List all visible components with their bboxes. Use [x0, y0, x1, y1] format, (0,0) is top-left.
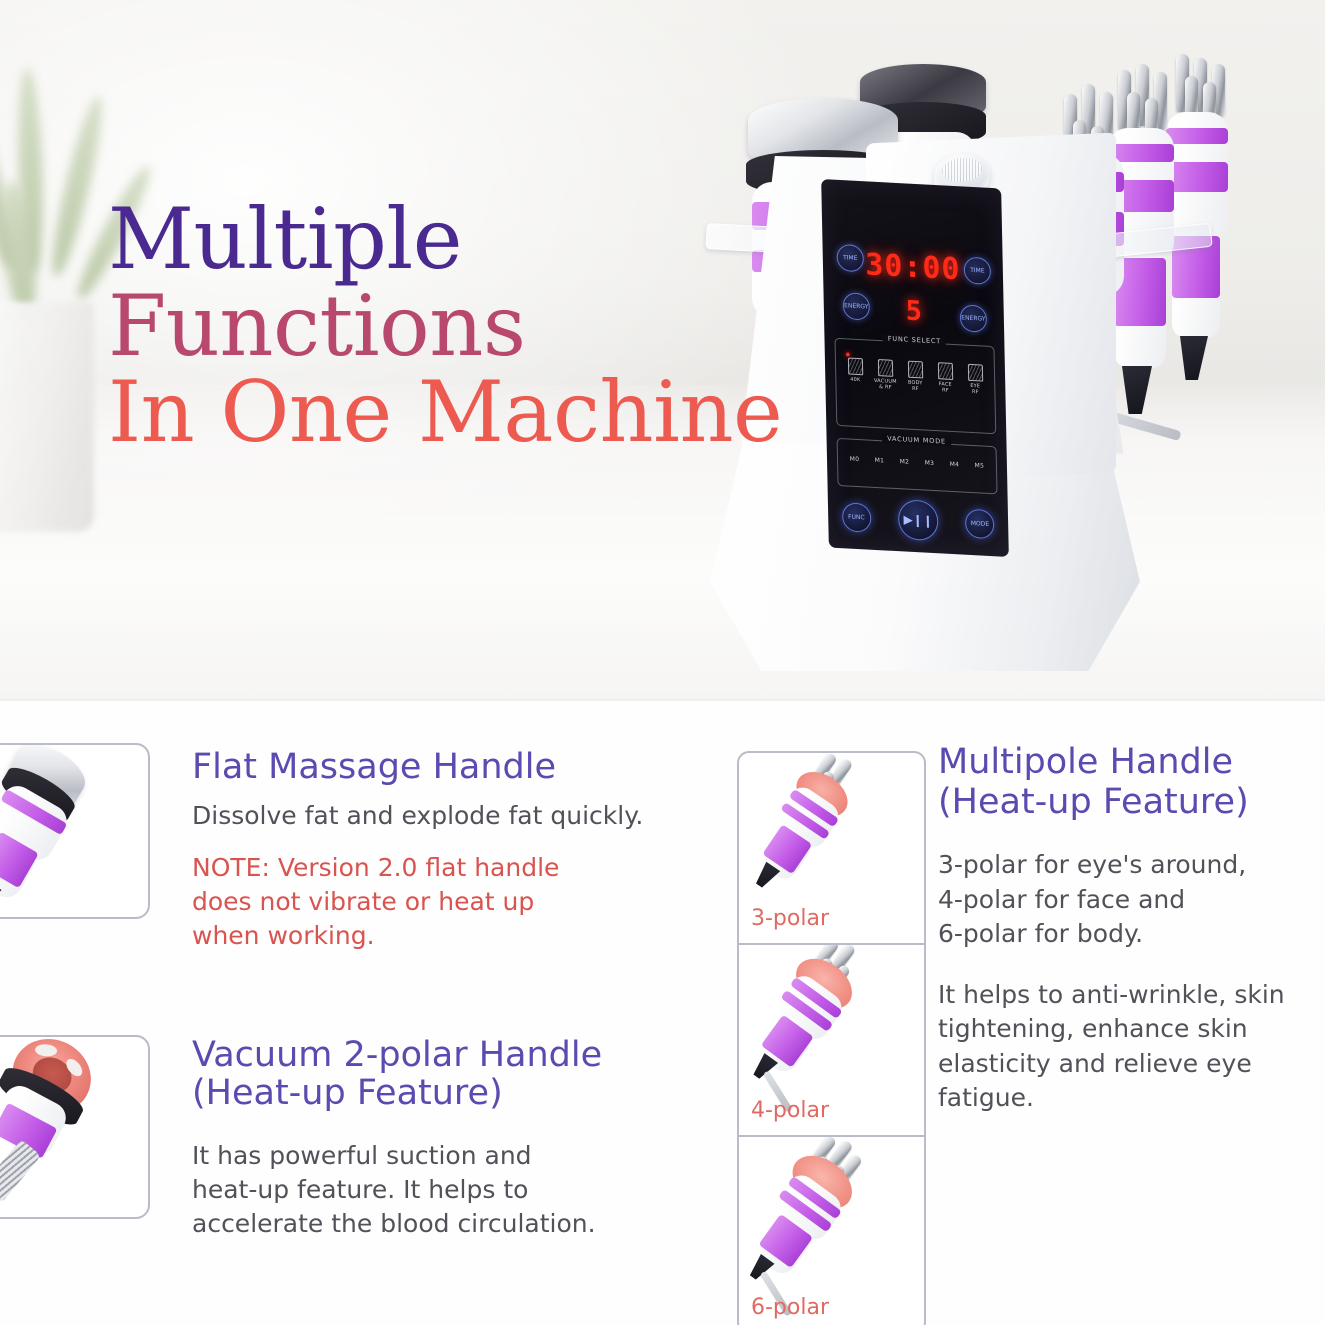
polar-box-4-label: 4-polar — [751, 1098, 829, 1123]
level-display: 5 — [905, 295, 922, 327]
multipole-body1-line-2: 4-polar for face and — [938, 883, 1325, 918]
polar-handle-gallery: 3-polar 4-polar — [737, 751, 922, 1325]
flat-handle-note-line-1: NOTE: Version 2.0 flat handle — [192, 851, 737, 885]
vacuum-probe-icon — [877, 359, 892, 377]
multipole-body1-line-1: 3-polar for eye's around, — [938, 848, 1325, 883]
func-item-40k[interactable]: 40K — [841, 357, 869, 384]
product-infographic: 30:00 TIME TIME 5 ENERGY ENERGY FUNC SEL… — [0, 0, 1325, 1325]
flat-massage-handle-thumbnail — [0, 743, 150, 919]
func-item-eye-rf[interactable]: EYE RF — [961, 363, 989, 396]
timer-display: 30:00 — [865, 247, 961, 287]
play-pause-button[interactable]: ▶❙❙ — [898, 499, 939, 541]
hero-section: 30:00 TIME TIME 5 ENERGY ENERGY FUNC SEL… — [0, 0, 1325, 700]
vacuum-handle-body-line-3: accelerate the blood circulation. — [192, 1207, 737, 1241]
multipole-title-line-2: (Heat-up Feature) — [938, 783, 1325, 823]
func-button[interactable]: FUNC — [842, 502, 872, 533]
func-select-items: 40K VACUUM & RF — [840, 357, 991, 396]
func-item-vacuum-rf[interactable]: VACUUM & RF — [871, 359, 899, 392]
polar-box-6-label: 6-polar — [751, 1295, 829, 1320]
vacuum-handle-body-line-1: It has powerful suction and — [192, 1139, 737, 1173]
vacuum-handle-title-line-2: (Heat-up Feature) — [192, 1075, 737, 1113]
polar-box-3-label: 3-polar — [751, 906, 829, 931]
vacuum-mode-legend: VACUUM MODE — [882, 434, 951, 446]
func-select-group: FUNC SELECT 40K — [834, 338, 996, 435]
vacuum-mode-m4[interactable]: M4 — [950, 461, 960, 469]
feature-multipole-handle: Multipole Handle (Heat-up Feature) 3-pol… — [938, 743, 1325, 1116]
func-item-body-rf[interactable]: BODY RF — [901, 360, 929, 393]
vacuum-handle-title-line-1: Vacuum 2-polar Handle — [192, 1037, 737, 1075]
vacuum-mode-m0[interactable]: M0 — [850, 456, 860, 464]
plant-pot — [0, 302, 94, 532]
multipole-body2-line-4: fatigue. — [938, 1081, 1325, 1116]
headline-line-3: In One Machine — [108, 369, 782, 456]
vacuum-2polar-handle-thumbnail — [0, 1035, 150, 1219]
vacuum-mode-group: VACUUM MODE M0 M1 M2 M3 M4 M5 — [837, 438, 998, 494]
flat-handle-note-line-3: when working. — [192, 919, 737, 953]
flat-handle-subtitle: Dissolve fat and explode fat quickly. — [192, 799, 737, 833]
flat-handle-title: Flat Massage Handle — [192, 749, 737, 787]
vacuum-mode-m2[interactable]: M2 — [900, 458, 910, 466]
polar-box-3: 3-polar — [737, 751, 926, 945]
vacuum-mode-m5[interactable]: M5 — [975, 462, 985, 470]
polar-box-6: 6-polar — [737, 1137, 926, 1325]
vacuum-handle-body-line-2: heat-up feature. It helps to — [192, 1173, 737, 1207]
feature-vacuum-2polar-handle: Vacuum 2-polar Handle (Heat-up Feature) … — [192, 1037, 737, 1241]
vacuum-mode-m3[interactable]: M3 — [925, 460, 935, 468]
headline-line-1: Multiple — [108, 196, 782, 283]
polar-box-4: 4-polar — [737, 945, 926, 1137]
headline-line-2: Functions — [108, 283, 782, 370]
cavitation-probe-icon — [847, 357, 862, 375]
panel-control-buttons: FUNC ▶❙❙ MODE — [828, 495, 1009, 544]
face-rf-probe-icon — [937, 362, 952, 380]
body-rf-probe-icon — [907, 361, 922, 379]
multipole-body2-line-2: tightening, enhance skin — [938, 1012, 1325, 1047]
func-item-face-rf[interactable]: FACE RF — [931, 362, 959, 395]
feature-flat-massage-handle: Flat Massage Handle Dissolve fat and exp… — [192, 749, 737, 953]
multipole-body1-line-3: 6-polar for body. — [938, 917, 1325, 952]
multipole-title-line-1: Multipole Handle — [938, 743, 1325, 783]
hero-headline: Multiple Functions In One Machine — [108, 196, 782, 456]
func-select-legend: FUNC SELECT — [883, 334, 946, 345]
multipole-body2-line-3: elasticity and relieve eye — [938, 1047, 1325, 1082]
features-section: Flat Massage Handle Dissolve fat and exp… — [0, 701, 1325, 1325]
active-function-indicator — [846, 352, 850, 356]
mode-button[interactable]: MODE — [965, 508, 995, 539]
multipole-body2-line-1: It helps to anti-wrinkle, skin — [938, 978, 1325, 1013]
vacuum-mode-items: M0 M1 M2 M3 M4 M5 — [842, 455, 992, 470]
control-panel[interactable]: 30:00 TIME TIME 5 ENERGY ENERGY FUNC SEL… — [821, 179, 1009, 557]
eye-rf-probe-icon — [967, 364, 982, 382]
flat-handle-note-line-2: does not vibrate or heat up — [192, 885, 737, 919]
vacuum-mode-m1[interactable]: M1 — [875, 457, 885, 465]
